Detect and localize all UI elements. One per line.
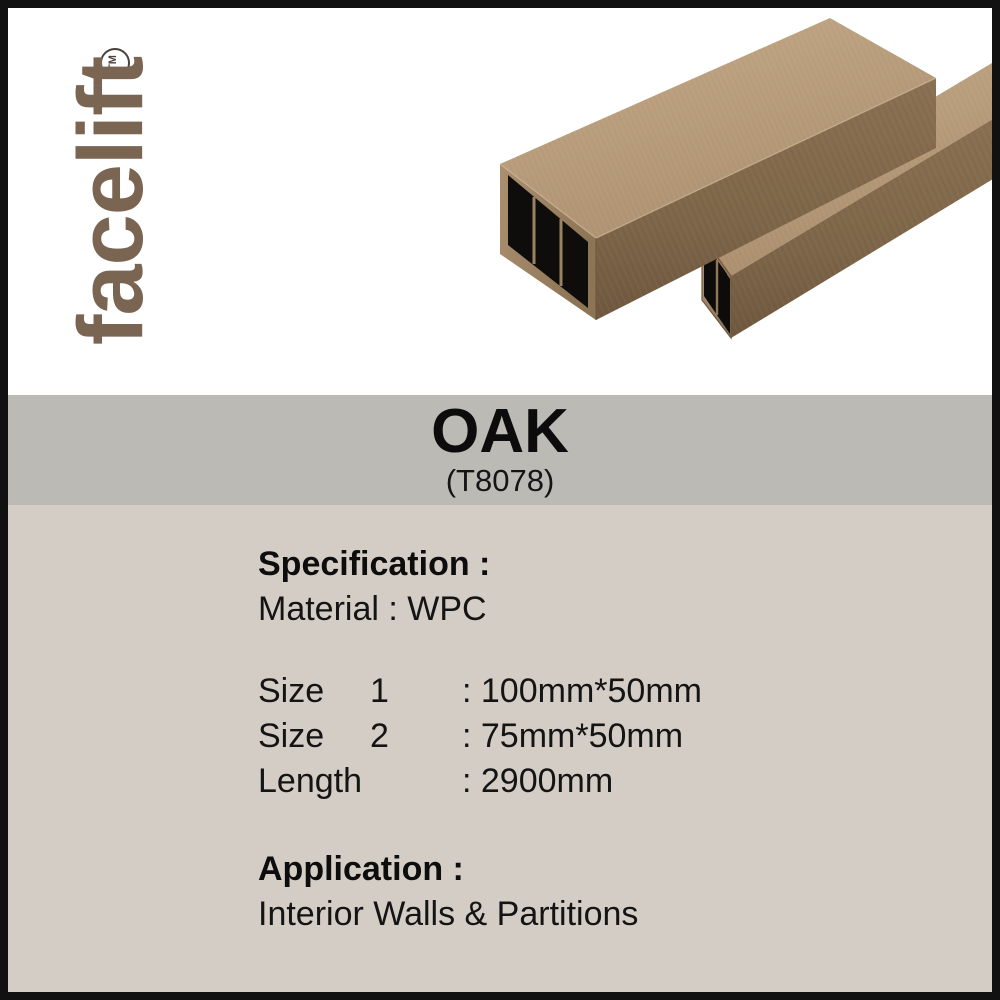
table-row: Length : 2900mm	[258, 759, 972, 804]
size-index: 1	[370, 669, 462, 714]
specification-body: Specification : Material : WPC Size 1 : …	[8, 505, 992, 992]
table-row: Size 2 : 75mm*50mm	[258, 714, 972, 759]
brand-logo: TM facelift	[36, 26, 186, 376]
application-block: Application : Interior Walls & Partition…	[258, 848, 972, 936]
application-value: Interior Walls & Partitions	[258, 892, 972, 937]
product-name: OAK	[431, 402, 569, 463]
title-band: OAK (T8078)	[8, 395, 992, 505]
table-row: Size 1 : 100mm*50mm	[258, 669, 972, 714]
material-line: Material : WPC	[258, 587, 972, 632]
length-label: Length	[258, 759, 370, 804]
wpc-profile-illustration	[478, 8, 992, 395]
size-table: Size 1 : 100mm*50mm Size 2 : 75mm*50mm L…	[258, 669, 972, 804]
product-spec-card: TM facelift	[0, 0, 1000, 1000]
brand-wordmark: facelift	[65, 57, 157, 346]
size-value: : 75mm*50mm	[462, 714, 683, 759]
length-value: : 2900mm	[462, 759, 613, 804]
product-photo-area: TM facelift	[8, 8, 992, 395]
size-value: : 100mm*50mm	[462, 669, 702, 714]
size-label: Size	[258, 669, 370, 714]
application-heading: Application :	[258, 848, 972, 892]
product-code: (T8078)	[446, 465, 555, 498]
size-label: Size	[258, 714, 370, 759]
size-index: 2	[370, 714, 462, 759]
specification-heading: Specification :	[258, 543, 972, 587]
